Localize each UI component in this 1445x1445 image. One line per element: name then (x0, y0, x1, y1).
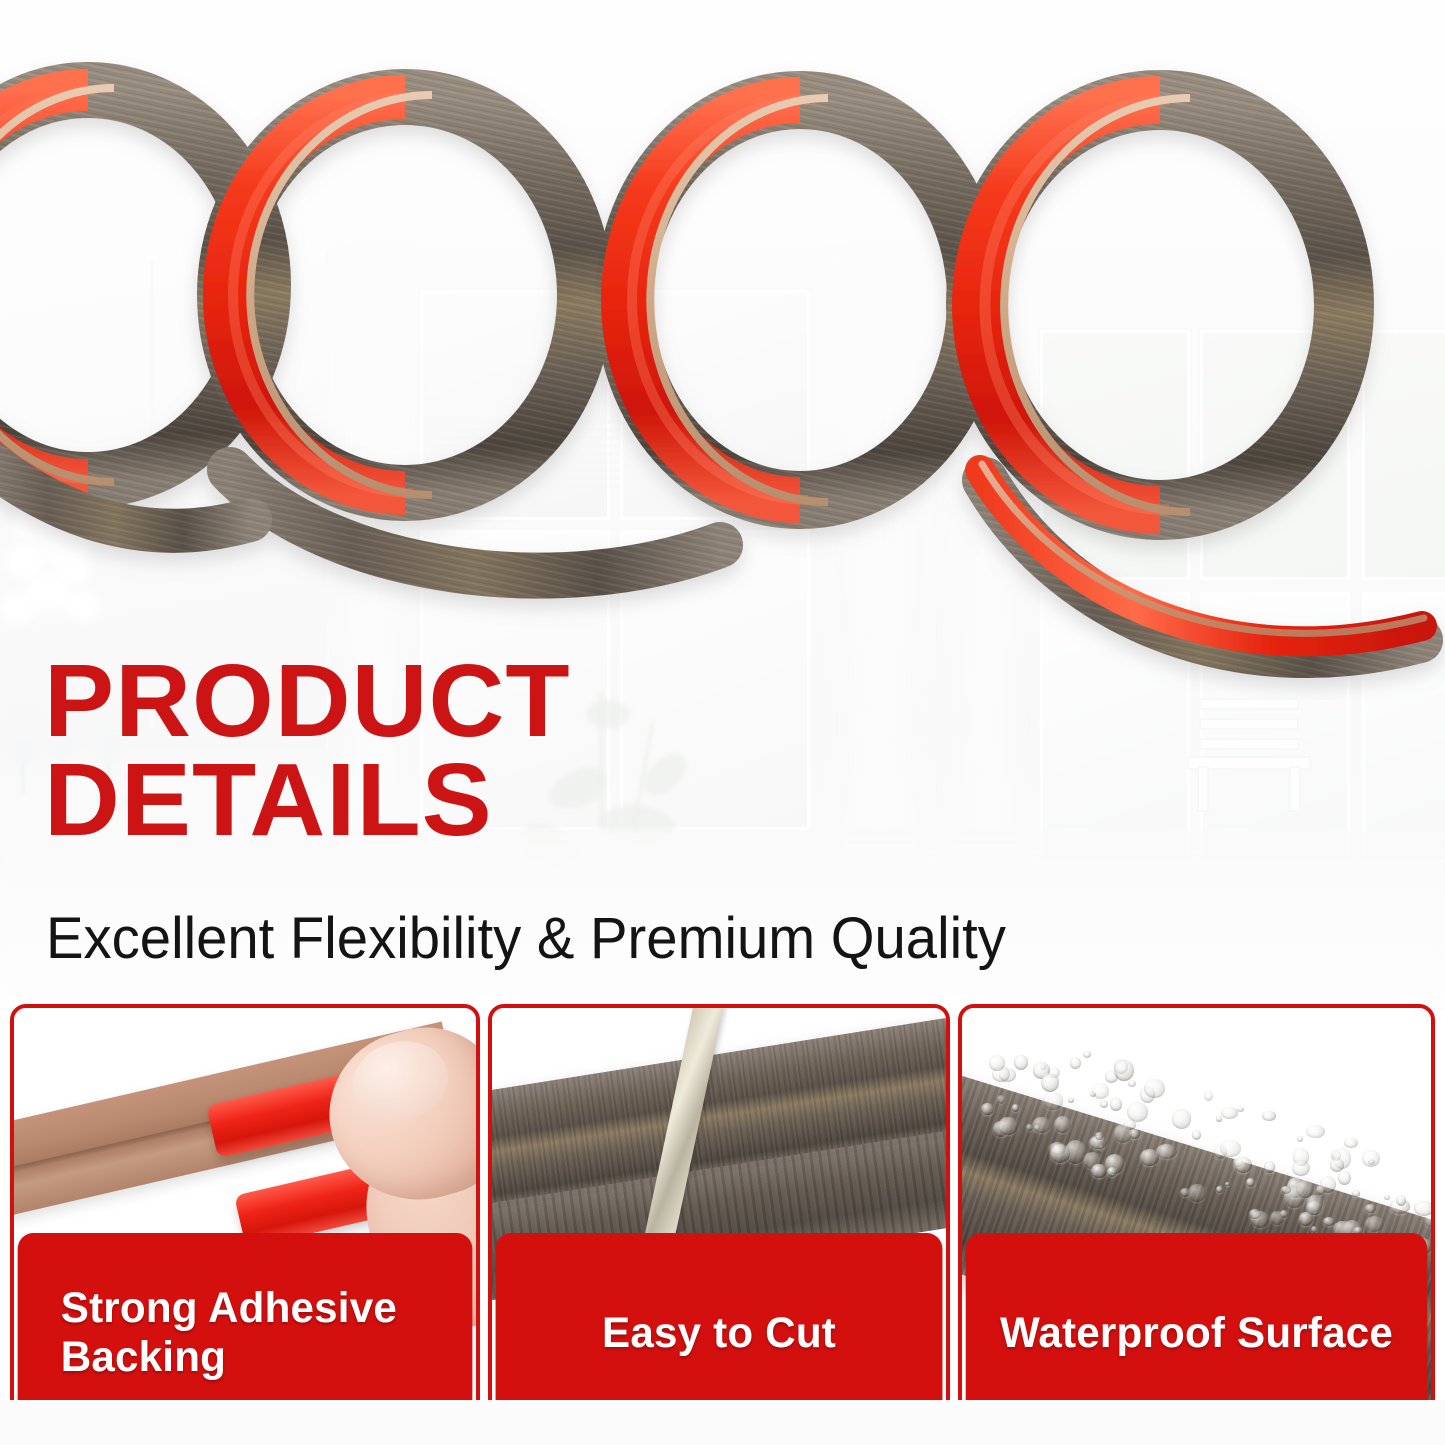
coil-loop-3 (624, 98, 976, 502)
water-droplet (1330, 1158, 1344, 1172)
water-droplet (1026, 1124, 1033, 1131)
water-droplet (1365, 1204, 1376, 1213)
water-droplet (1338, 1171, 1350, 1185)
page-title: PRODUCT DETAILS (44, 652, 758, 850)
water-droplet (1396, 1195, 1406, 1206)
water-droplet (1344, 1138, 1358, 1148)
water-droplet (981, 1103, 993, 1114)
water-droplet (1296, 1180, 1313, 1198)
water-droplet (1114, 1060, 1134, 1081)
water-droplet (1221, 1107, 1238, 1119)
feature-card-strong-adhesive-backing: Strong Adhesive Backing (10, 1004, 480, 1436)
water-droplet (1032, 1117, 1051, 1133)
water-droplet (1237, 1107, 1245, 1113)
water-droplet (1225, 1182, 1230, 1186)
water-droplet (1100, 1100, 1108, 1108)
water-droplet (1264, 1161, 1275, 1172)
water-droplet (1188, 1184, 1206, 1202)
water-droplet (1297, 1136, 1303, 1142)
water-droplet (1083, 1051, 1091, 1058)
water-droplet (1192, 1130, 1202, 1140)
water-droplet (1054, 1116, 1071, 1133)
water-droplet (1041, 1073, 1059, 1092)
water-droplet (1352, 1190, 1360, 1197)
water-droplet (1306, 1201, 1322, 1215)
water-droplet (1384, 1195, 1389, 1200)
water-droplet (1204, 1091, 1213, 1101)
water-droplet (1070, 1057, 1081, 1069)
water-droplet (1365, 1216, 1384, 1232)
water-droplet (1311, 1226, 1317, 1233)
bottom-white-band (0, 1400, 1445, 1445)
water-droplet (1216, 1116, 1222, 1121)
water-droplet (997, 1095, 1005, 1104)
water-droplet (1180, 1188, 1190, 1197)
water-droplet (1014, 1055, 1029, 1070)
water-droplet (1127, 1102, 1149, 1122)
water-droplet (1092, 1083, 1109, 1099)
water-droplet (1043, 1092, 1063, 1109)
hero-coiled-strip (0, 0, 1445, 700)
water-droplet (1144, 1079, 1165, 1099)
water-droplet (1172, 1109, 1190, 1129)
coil-loop-4 (976, 98, 1344, 512)
water-droplet (1234, 1157, 1252, 1174)
coil-group (0, 88, 1424, 655)
feature-card-waterproof-surface: Waterproof Surface (958, 1004, 1435, 1436)
water-droplet (1362, 1150, 1380, 1166)
water-droplet (1220, 1140, 1241, 1156)
water-droplet (1414, 1201, 1431, 1216)
water-droplet (998, 1117, 1017, 1136)
product-detail-image: PRODUCT DETAILS Excellent Flexibility & … (0, 0, 1445, 1445)
water-droplet (1262, 1111, 1276, 1121)
water-droplet (1050, 1144, 1070, 1163)
water-droplet (989, 1055, 1005, 1070)
feature-card-row: Strong Adhesive Backing Easy to Cut (0, 1004, 1445, 1436)
water-droplet (1292, 1160, 1310, 1176)
water-droplet (1249, 1209, 1261, 1220)
water-droplet (1110, 1098, 1122, 1110)
water-droplet (1280, 1210, 1288, 1218)
feature-card-easy-to-cut: Easy to Cut (488, 1004, 950, 1436)
water-droplet (1156, 1144, 1177, 1159)
water-droplet (1306, 1125, 1325, 1138)
water-droplet (1068, 1098, 1074, 1103)
page-subtitle: Excellent Flexibility & Premium Quality (46, 905, 1326, 972)
water-droplet (1128, 1080, 1136, 1088)
